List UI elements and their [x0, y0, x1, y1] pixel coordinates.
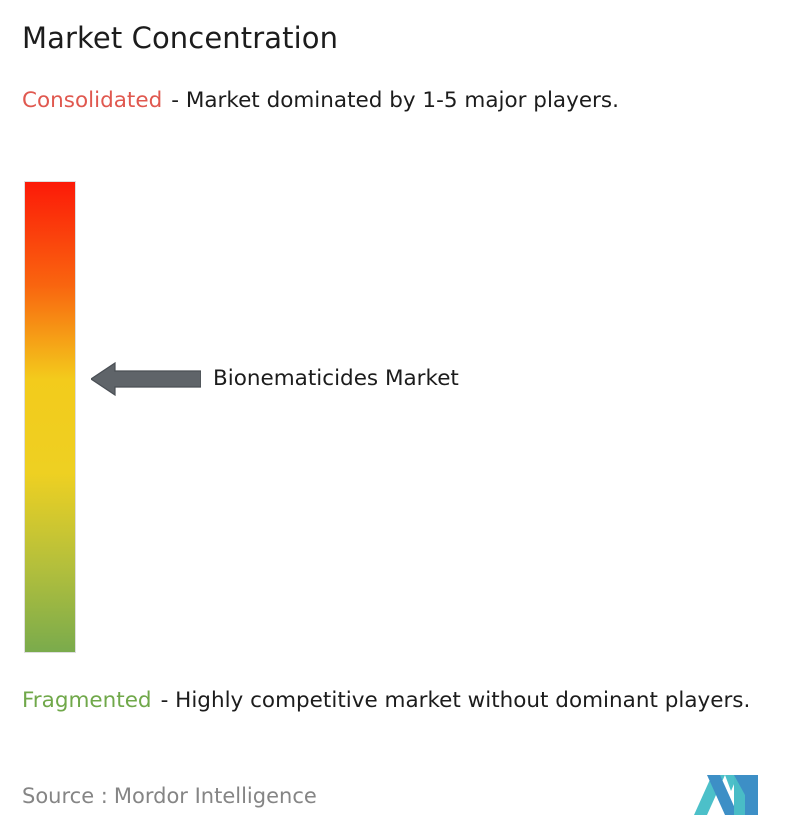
legend-description-fragmented: - Highly competitive market without domi… [161, 688, 751, 713]
arrow-left-icon [91, 361, 201, 397]
source-value: Mordor Intelligence [114, 784, 317, 808]
legend-term-fragmented: Fragmented [22, 688, 152, 713]
market-position-marker: Bionematicides Market [91, 358, 459, 400]
concentration-gradient-bar [25, 182, 75, 652]
legend-term-consolidated: Consolidated [22, 88, 162, 113]
market-label: Bionematicides Market [213, 365, 459, 393]
legend-fragmented: Fragmented- Highly competitive market wi… [22, 686, 784, 716]
market-concentration-infographic: Market Concentration Consolidated- Marke… [0, 0, 796, 834]
page-title: Market Concentration [22, 20, 338, 56]
legend-description-consolidated: - Market dominated by 1-5 major players. [171, 88, 619, 113]
legend-consolidated: Consolidated- Market dominated by 1-5 ma… [22, 86, 784, 116]
mordor-intelligence-logo-icon [694, 771, 758, 815]
source-label: Source : [22, 784, 108, 808]
source-attribution: Source :Mordor Intelligence [22, 782, 317, 810]
